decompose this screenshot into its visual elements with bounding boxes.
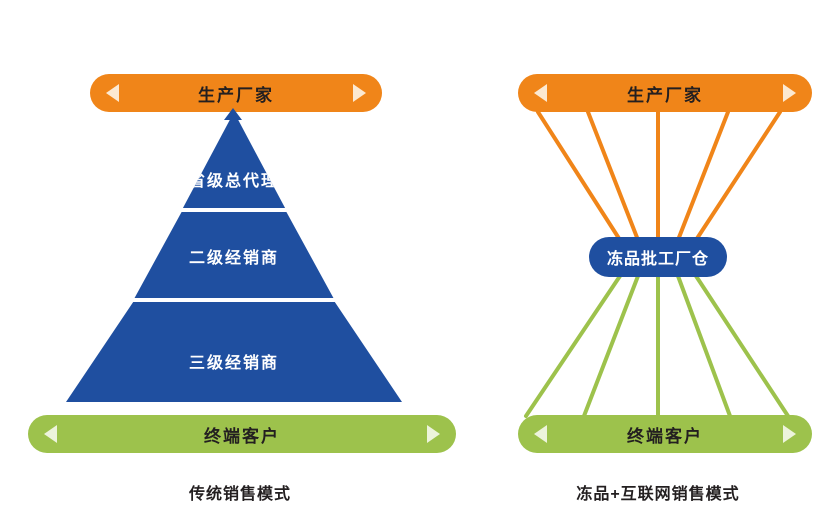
pyramid-tier-2[interactable]: 二级经销商 bbox=[66, 212, 402, 298]
pyramid-tier-3-label: 三级经销商 bbox=[189, 349, 279, 373]
triangle-right-icon bbox=[353, 84, 366, 102]
triangle-left-icon bbox=[44, 425, 57, 443]
right-customer-label: 终端客户 bbox=[627, 422, 703, 447]
left-panel-caption: 传统销售模式 bbox=[0, 480, 480, 504]
distribution-pyramid: 省级总代理 二级经销商 三级经销商 bbox=[66, 112, 402, 402]
pyramid-tier-1-label: 省级总代理 bbox=[189, 167, 279, 191]
pyramid-tier-2-label: 二级经销商 bbox=[189, 244, 279, 268]
left-customer-bar[interactable]: 终端客户 bbox=[28, 415, 456, 453]
frozen-goods-warehouse-node[interactable]: 冻品批工厂仓 bbox=[589, 237, 727, 277]
triangle-left-icon bbox=[534, 425, 547, 443]
triangle-left-icon bbox=[106, 84, 119, 102]
triangle-right-icon bbox=[427, 425, 440, 443]
frozen-goods-warehouse-label: 冻品批工厂仓 bbox=[607, 245, 709, 269]
internet-sales-panel: 生产厂家 冻品批工厂仓 终端客户 冻品+互联网销售模式 bbox=[480, 0, 836, 528]
left-customer-label: 终端客户 bbox=[204, 422, 280, 447]
right-producer-label: 生产厂家 bbox=[627, 81, 703, 106]
pyramid-tier-3[interactable]: 三级经销商 bbox=[66, 302, 402, 402]
right-customer-bar[interactable]: 终端客户 bbox=[518, 415, 812, 453]
left-producer-label: 生产厂家 bbox=[198, 81, 274, 106]
upper-connectors bbox=[538, 112, 780, 240]
traditional-sales-panel: 生产厂家 省级总代理 二级经销商 三级经销商 终端客户 传统销售模式 bbox=[0, 0, 480, 528]
lower-connectors bbox=[526, 276, 788, 416]
triangle-right-icon bbox=[783, 84, 796, 102]
right-producer-bar[interactable]: 生产厂家 bbox=[518, 74, 812, 112]
left-producer-bar[interactable]: 生产厂家 bbox=[90, 74, 382, 112]
triangle-right-icon bbox=[783, 425, 796, 443]
triangle-left-icon bbox=[534, 84, 547, 102]
pyramid-tier-1[interactable]: 省级总代理 bbox=[66, 112, 402, 208]
diagram-canvas: 生产厂家 省级总代理 二级经销商 三级经销商 终端客户 传统销售模式 bbox=[0, 0, 836, 528]
